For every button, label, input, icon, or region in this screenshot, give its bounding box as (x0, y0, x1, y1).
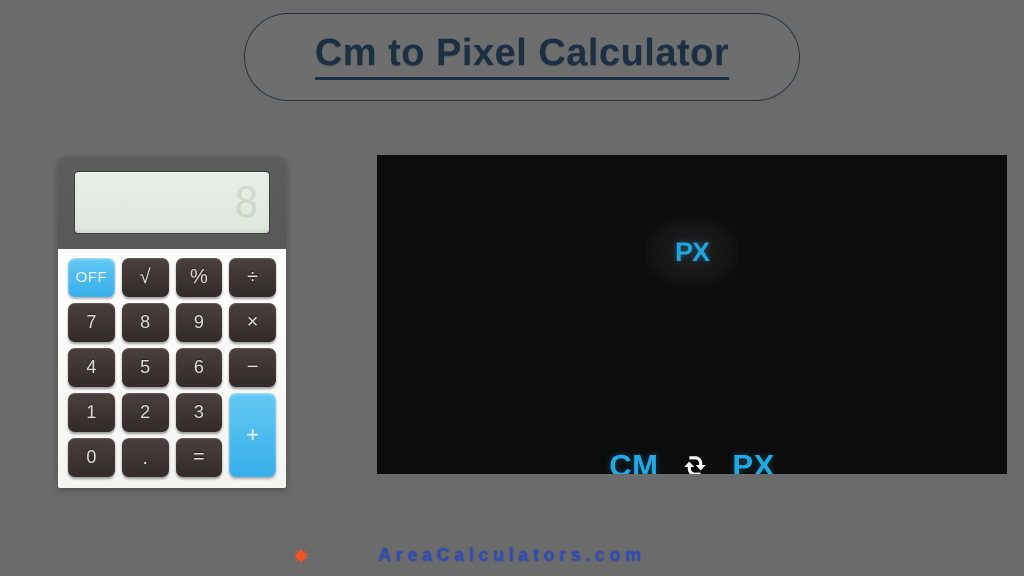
unit-from-label: CM (609, 448, 658, 474)
calculator-key-equals[interactable]: = (176, 438, 223, 477)
unit-to-label: PX (732, 448, 774, 474)
calculator-upper-body: 8 (58, 157, 286, 249)
unit-conversion-row: CM PX (377, 448, 1007, 474)
calculator-key-7[interactable]: 7 (68, 303, 115, 342)
calculator-key-minus[interactable]: − (229, 348, 276, 387)
swap-arrows-icon (680, 451, 710, 474)
calculator-key-9[interactable]: 9 (176, 303, 223, 342)
calculator-key-0[interactable]: 0 (68, 438, 115, 477)
calculator-display-value: 8 (234, 178, 260, 228)
calculator-key-8[interactable]: 8 (122, 303, 169, 342)
calculator-key-off[interactable]: OFF (68, 258, 115, 297)
px-logo: PX (377, 217, 1007, 288)
calculator-illustration: 8 OFF√%÷789×456−123+0.= (58, 157, 286, 488)
calculator-key-6[interactable]: 6 (176, 348, 223, 387)
calculator-key-percent[interactable]: % (176, 258, 223, 297)
calculator-key-2[interactable]: 2 (122, 393, 169, 432)
calculator-key-5[interactable]: 5 (122, 348, 169, 387)
footer: AreaCalculators.com (0, 545, 1024, 566)
calculator-key-divide[interactable]: ÷ (229, 258, 276, 297)
starburst-icon (292, 547, 310, 565)
footer-site-name: AreaCalculators.com (378, 545, 645, 566)
calculator-key-1[interactable]: 1 (68, 393, 115, 432)
calculator-key-4[interactable]: 4 (68, 348, 115, 387)
calculator-key-decimal[interactable]: . (122, 438, 169, 477)
page-title-container: Cm to Pixel Calculator (244, 13, 800, 101)
calculator-key-3[interactable]: 3 (176, 393, 223, 432)
video-thumbnail-panel[interactable]: PX CM PX CSS Unit Converter (377, 155, 1007, 474)
calculator-key-multiply[interactable]: × (229, 303, 276, 342)
calculator-key-plus[interactable]: + (229, 393, 276, 477)
page-title: Cm to Pixel Calculator (315, 34, 729, 80)
px-logo-glyph: PX (645, 217, 739, 288)
calculator-key-sqrt[interactable]: √ (122, 258, 169, 297)
calculator-keypad: OFF√%÷789×456−123+0.= (58, 249, 286, 488)
calculator-display: 8 (74, 171, 270, 234)
